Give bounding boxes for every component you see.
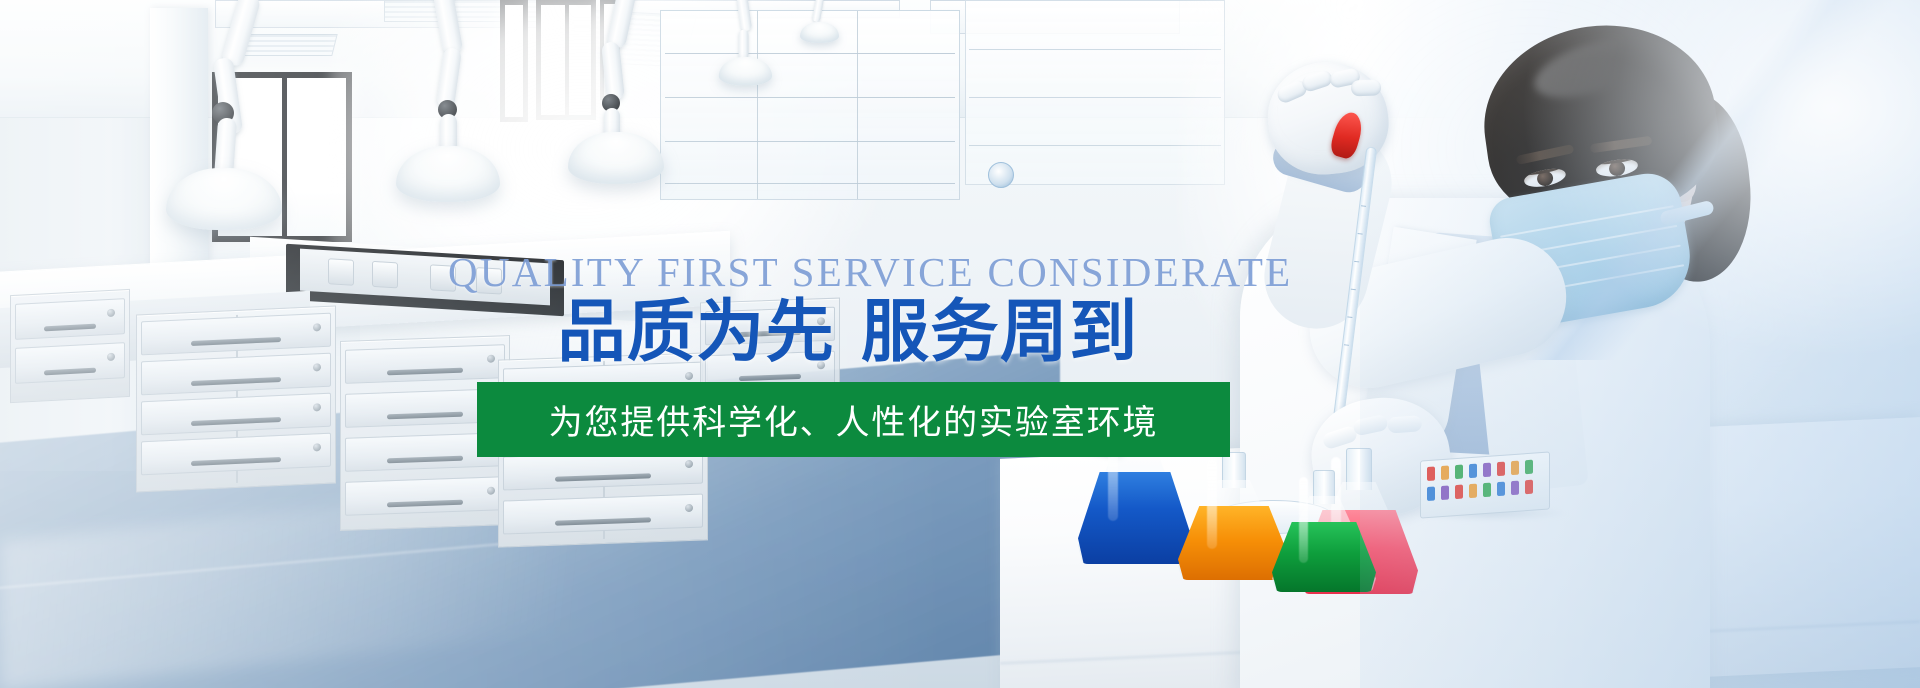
- hero-banner: QUALITY FIRST SERVICE CONSIDERATE 品质为先服务…: [0, 0, 1920, 688]
- banner-subtitle-bar: 为您提供科学化、人性化的实验室环境: [477, 382, 1230, 457]
- headline-part-1: 品质为先: [558, 294, 835, 370]
- banner-eyebrow-english: QUALITY FIRST SERVICE CONSIDERATE: [448, 248, 1248, 296]
- headline-part-2: 服务周到: [861, 294, 1138, 370]
- banner-headline: 品质为先服务周到: [448, 296, 1248, 369]
- banner-subtitle-text: 为您提供科学化、人性化的实验室环境: [549, 395, 1159, 444]
- banner-copy: QUALITY FIRST SERVICE CONSIDERATE 品质为先服务…: [0, 0, 1920, 688]
